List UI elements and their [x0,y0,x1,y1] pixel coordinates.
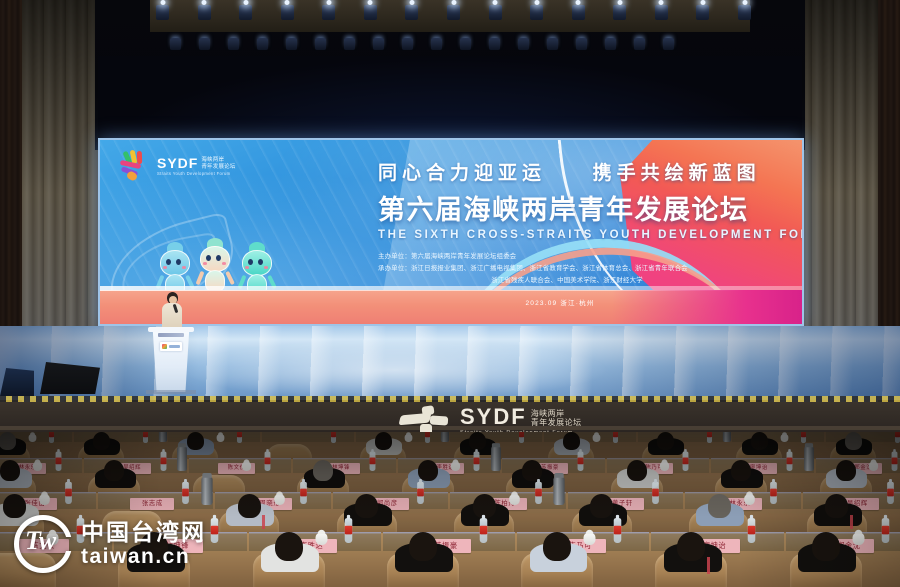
tea-cup [274,494,285,505]
water-bottle [682,452,688,471]
water-bottle [56,452,62,471]
stage-light-fixture [198,5,211,20]
stage-sydf-cn-line-2: 青年发展论坛 [531,418,582,428]
tea-cup [744,494,755,505]
water-bottle [652,482,659,504]
screen-organizer-block: 主办单位：第六届海峡两岸青年发展论坛组委会 承办单位：浙江日报报业集团、浙江广播… [378,251,738,287]
water-bottle [143,432,148,443]
thermos-flask [441,432,449,442]
water-bottle [707,432,712,443]
audience-member-head [0,432,16,450]
kicker-left: 同心合力迎亚运 [378,163,546,184]
watermark-domain: taiwan.cn [81,546,206,568]
thermos-flask [177,446,187,471]
lectern-title-strip [158,333,184,337]
watermark: Tw 中国台湾网 taiwan.cn [14,515,206,573]
auditorium-scene: SYDF 海峡两岸 青年发展论坛 Straits Youth Developme… [0,0,900,587]
thermos-flask [201,477,212,505]
screen-date-location-holder: 2023.09 浙江·杭州 [378,292,742,310]
stage-light-fixture [530,5,543,20]
stage-light-fixture [572,5,585,20]
lectern [152,330,190,392]
led-screen: SYDF 海峡两岸 青年发展论坛 Straits Youth Developme… [98,138,804,326]
audience-member-head [104,460,124,481]
water-bottle [425,432,430,443]
cohost-line-1: 承办单位：浙江日报报业集团、浙江广播电视集团、浙江省教育学会、浙江省体育总会、浙… [378,263,738,275]
audience-member-head [845,432,862,450]
sydf-cn-line-2: 青年发展论坛 [201,164,235,170]
upper-stage-darkness [98,56,802,142]
stage-floor-glow [180,340,610,400]
lanyard [707,557,710,574]
tea-cup [33,462,42,471]
lectern-logo [160,342,182,351]
stage-light-fixture-rear [257,38,268,50]
name-placard: 张志成 [130,498,174,510]
audience-member-head [93,432,110,450]
screen-kicker: 同心合力迎亚运 携手共绘新蓝图 [378,158,738,185]
audience-member-head [836,460,856,481]
water-bottle [770,482,777,504]
thermos-flask [804,446,814,471]
stage-light-fixture-rear [315,38,326,50]
tea-cup [584,533,596,545]
stage-light-fixture-rear [199,38,210,50]
tea-cup [509,494,520,505]
tea-cup [869,462,878,471]
audience-member-head [522,460,542,481]
watermark-text: 中国台湾网 taiwan.cn [81,520,206,568]
screen-main-title: 第六届海峡两岸青年发展论坛 [378,188,738,227]
water-bottle [265,452,271,471]
water-bottle [211,518,219,543]
audience-member-head [418,460,438,481]
stage-light-fixture [405,5,418,20]
water-bottle [417,482,424,504]
audience-member-head [657,432,674,450]
tea-cup [217,434,225,442]
tea-cup [781,434,789,442]
watermark-mark: Tw [25,528,55,554]
name-placard-text: 张志成 [130,498,174,510]
audience-member-head [812,532,840,561]
stage-light-fixture-rear [402,38,413,50]
water-bottle [614,518,622,543]
tea-cup [405,434,413,442]
audience-member-head [825,494,848,518]
water-bottle [237,432,242,443]
water-bottle [748,518,756,543]
stage-light-fixture-rear [228,38,239,50]
lectern-top [148,327,194,332]
audience-member-head [0,460,20,481]
audience-member-head [731,460,751,481]
stage-light-fixture-rear [344,38,355,50]
audience-member-head [355,494,378,518]
lectern-base [146,390,196,394]
audience-member-head [313,460,333,481]
audience-member-head [751,432,768,450]
tea-cup [39,494,50,505]
audience-member-head [563,432,580,450]
stage-light-fixture-rear [489,38,500,50]
water-bottle [300,482,307,504]
stage-light-fixture-rear [170,38,181,50]
audience-member-head [469,432,486,450]
stage-light-fixture-rear [460,38,471,50]
water-bottle [331,432,336,443]
water-bottle [65,482,72,504]
stage-sydf-cn-line-1: 海峡两岸 [531,409,582,419]
thermos-flask [554,477,565,505]
stage-light-fixture [364,5,377,20]
audience-member-head [238,494,261,518]
water-bottle [578,452,584,471]
tea-cup [29,434,37,442]
stage-light-fixture [738,5,751,20]
water-bottle [882,518,890,543]
audience-member-head [677,532,705,561]
stage-light-fixture [447,5,460,20]
lanyard [262,515,265,529]
water-bottle [474,452,480,471]
kicker-right: 携手共绘新蓝图 [593,163,761,184]
stage-light-fixture [322,5,335,20]
tea-cup [451,462,460,471]
watermark-chinese-name: 中国台湾网 [81,520,206,544]
water-bottle [535,482,542,504]
stage-light-fixture [489,5,502,20]
stage-light-row [150,0,750,34]
water-bottle [787,452,793,471]
audience-member-head [409,532,437,561]
stage-light-fixture [156,5,169,20]
water-bottle [613,432,618,443]
taiwan-cn-logo-icon: Tw [14,515,72,573]
organizer-line: 主办单位：第六届海峡两岸青年发展论坛组委会 [378,251,738,263]
water-bottle [801,432,806,443]
screen-english-title: THE SIXTH CROSS-STRAITS YOUTH DEVELOPMEN… [378,229,738,241]
sydf-chinese-name: 海峡两岸 青年发展论坛 [201,157,235,170]
sydf-logo: SYDF 海峡两岸 青年发展论坛 Straits Youth Developme… [118,150,236,182]
tea-cup [660,462,669,471]
water-bottle [479,518,487,543]
stage-light-fixture-rear [663,38,674,50]
stage-light-fixture-rear [518,38,529,50]
stage-light-fixture-rear [576,38,587,50]
stage-sydf-wordmark: SYDF [460,406,527,428]
audience-member-head [187,432,204,450]
stage-light-fixture-rear [605,38,616,50]
stage-light-fixture [696,5,709,20]
audience-member-head [627,460,647,481]
stage-light-fixture-rear [286,38,297,50]
stage-light-fixture-rear [547,38,558,50]
stage-light-truss-second-row [160,32,700,58]
stage-light-fixture-rear [634,38,645,50]
thermos-flask [159,432,167,442]
sydf-ribbon-icon [118,150,150,182]
screen-date-location: 2023.09 浙江·杭州 [525,300,594,307]
water-bottle [519,432,524,443]
audience-member-head [708,494,731,518]
tea-cup [315,533,327,545]
sydf-wordmark: SYDF [157,156,198,170]
audience-desk [262,432,354,442]
cohost-line-2: 浙江省残疾人联合会、中国美术学院、浙江财经大学 [378,275,738,287]
sydf-logo-text: SYDF 海峡两岸 青年发展论坛 Straits Youth Developme… [157,156,236,176]
audience-member-head [590,494,613,518]
audience-member-head [543,532,571,561]
water-bottle [895,432,900,443]
speaker-at-podium [160,292,184,332]
audience-member-head [375,432,392,450]
water-bottle [160,452,166,471]
water-bottle [887,482,894,504]
stage-light-fixture [281,5,294,20]
audience-member-head [275,532,303,561]
screen-headline-block: 同心合力迎亚运 携手共绘新蓝图 第六届海峡两岸青年发展论坛 THE SIXTH … [378,158,738,287]
stage-light-fixture-rear [431,38,442,50]
tea-cup [593,434,601,442]
stage-light-fixture [613,5,626,20]
tea-cup [242,462,251,471]
thermos-flask [723,432,731,442]
water-bottle [49,432,54,443]
water-bottle [345,518,353,543]
stage-sydf-chinese-name: 海峡两岸 青年发展论坛 [531,409,582,428]
stage-light-fixture [239,5,252,20]
water-bottle [369,452,375,471]
lanyard [850,515,853,529]
tea-cup [852,533,864,545]
water-bottle [891,452,897,471]
thermos-flask [491,446,501,471]
sydf-tagline: Straits Youth Development Forum [157,172,236,176]
stage-light-fixture-rear [373,38,384,50]
stage-light-fixture [655,5,668,20]
water-bottle [182,482,189,504]
